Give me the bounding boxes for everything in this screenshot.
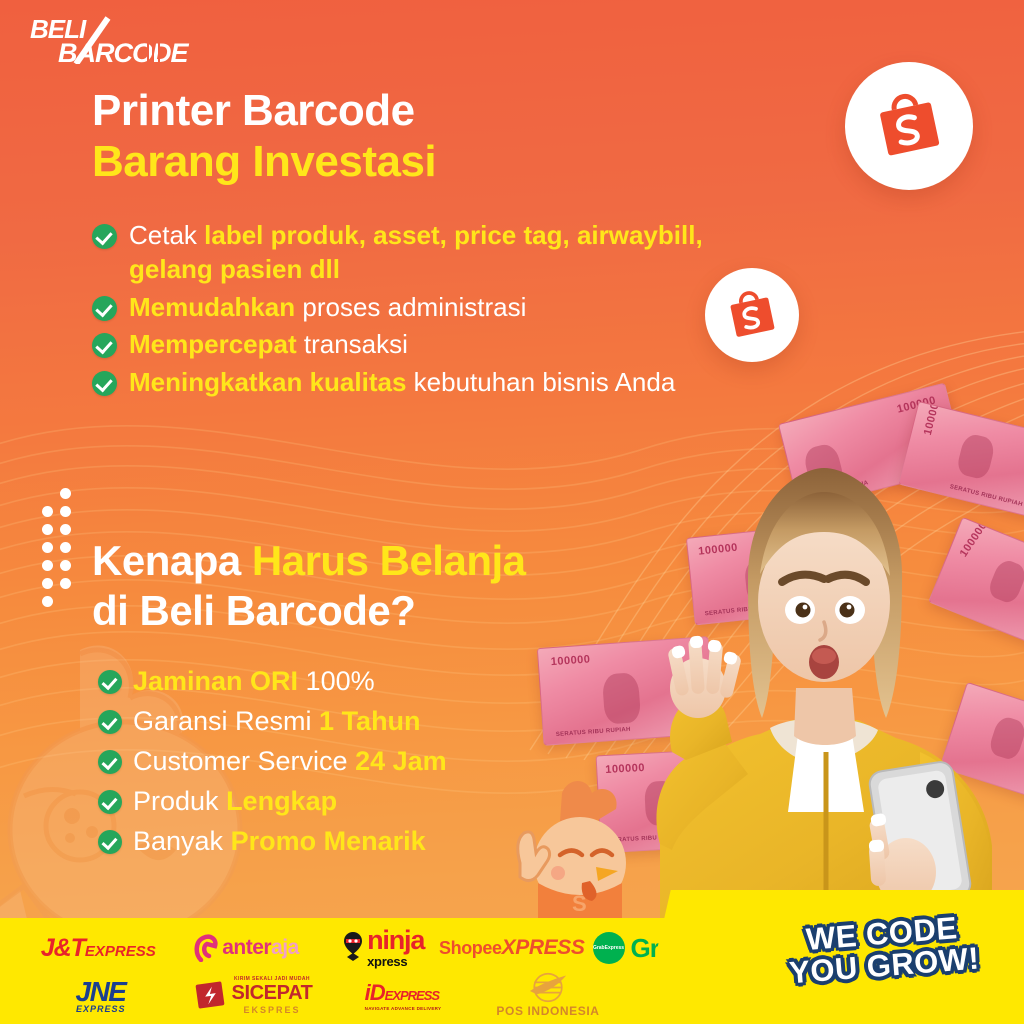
- check-icon: [98, 670, 122, 694]
- decorative-dot-grid: [30, 488, 90, 608]
- courier-row-1: J&TEXPRESS anteraja ninja xpress: [28, 926, 698, 970]
- shopee-badge-small: [705, 268, 799, 362]
- shopee-bag-icon: [870, 87, 948, 165]
- courier-logo-id-express[interactable]: iDEXPRESS NAVIGATE ADVANCE DELIVERY: [333, 972, 473, 1018]
- check-icon: [98, 710, 122, 734]
- benefit-list: Jaminan ORI 100% Garansi Resmi 1 Tahun C…: [98, 664, 568, 864]
- check-icon: [98, 830, 122, 854]
- pos-indonesia-bird-icon: [521, 972, 575, 1003]
- anteraja-mark-icon: [193, 934, 219, 962]
- courier-logo-ninja-xpress[interactable]: ninja xpress: [324, 926, 442, 970]
- list-item: Meningkatkan kualitas kebutuhan bisnis A…: [92, 366, 712, 400]
- section-2-title: Kenapa Harus Belanja di Beli Barcode?: [92, 536, 692, 635]
- section-2-heading-line-2: di Beli Barcode?: [92, 586, 692, 636]
- feature-text-3: Meningkatkan kualitas kebutuhan bisnis A…: [129, 366, 675, 400]
- feature-text-2: Mempercepat transaksi: [129, 328, 408, 362]
- list-item: Customer Service 24 Jam: [98, 744, 568, 778]
- check-icon: [92, 296, 117, 321]
- promo-poster: BELI BARCODE Printer Barcode Barang Inve…: [0, 0, 1024, 1024]
- brand-logo[interactable]: BELI BARCODE: [22, 12, 232, 64]
- section-2-heading-line-1: Kenapa Harus Belanja: [92, 536, 692, 586]
- benefit-text-4: Banyak Promo Menarik: [133, 824, 426, 858]
- list-item: Produk Lengkap: [98, 784, 568, 818]
- chicken-mascot-icon: S: [500, 775, 650, 920]
- check-icon: [98, 790, 122, 814]
- feature-list: Cetak label produk, asset, price tag, ai…: [92, 219, 712, 404]
- courier-logo-jne-express[interactable]: JNEEXPRESS: [28, 972, 173, 1018]
- svg-text:S: S: [572, 891, 587, 916]
- woman-photo-illustration: [620, 452, 1024, 932]
- check-icon: [98, 750, 122, 774]
- headline-line-1: Printer Barcode: [92, 86, 732, 135]
- list-item: Jaminan ORI 100%: [98, 664, 568, 698]
- list-item: Garansi Resmi 1 Tahun: [98, 704, 568, 738]
- banknote-denomination: 100000: [550, 653, 590, 668]
- feature-text-1: Memudahkan proses administrasi: [129, 291, 526, 325]
- list-item: Mempercepat transaksi: [92, 328, 712, 362]
- ninja-pin-icon: [341, 931, 365, 965]
- feature-text-0: Cetak label produk, asset, price tag, ai…: [129, 219, 712, 287]
- list-item: Memudahkan proses administrasi: [92, 291, 712, 325]
- banknote-denomination: 100000: [922, 401, 943, 437]
- page-title: Printer Barcode Barang Investasi: [92, 86, 732, 187]
- grabexpress-badge-icon: GrabExpress: [593, 932, 625, 964]
- benefit-text-0: Jaminan ORI 100%: [133, 664, 375, 698]
- courier-row-2: JNEEXPRESS KIRIM SEKALI JADI MUDAH SICEP…: [28, 972, 698, 1018]
- sicepat-mark-icon: [194, 978, 228, 1012]
- headline-line-2: Barang Investasi: [92, 137, 732, 186]
- shopee-badge-large: [845, 62, 973, 190]
- courier-logo-anteraja[interactable]: anteraja: [169, 926, 324, 970]
- benefit-text-3: Produk Lengkap: [133, 784, 337, 818]
- courier-logo-sicepat-ekspres[interactable]: KIRIM SEKALI JADI MUDAH SICEPAT EKSPRES: [173, 972, 333, 1018]
- list-item: Cetak label produk, asset, price tag, ai…: [92, 219, 712, 287]
- courier-logo-jt-express[interactable]: J&TEXPRESS: [28, 926, 169, 970]
- list-item: Banyak Promo Menarik: [98, 824, 568, 858]
- shopee-bag-icon: [723, 286, 781, 344]
- courier-logo-pos-indonesia[interactable]: POS INDONESIA: [473, 972, 623, 1018]
- courier-logos: J&TEXPRESS anteraja ninja xpress: [0, 918, 712, 1024]
- check-icon: [92, 371, 117, 396]
- check-icon: [92, 333, 117, 358]
- check-icon: [92, 224, 117, 249]
- courier-logo-shopee-xpress[interactable]: ShopeeXPRESS: [442, 926, 582, 970]
- benefit-text-2: Customer Service 24 Jam: [133, 744, 447, 778]
- benefit-text-1: Garansi Resmi 1 Tahun: [133, 704, 421, 738]
